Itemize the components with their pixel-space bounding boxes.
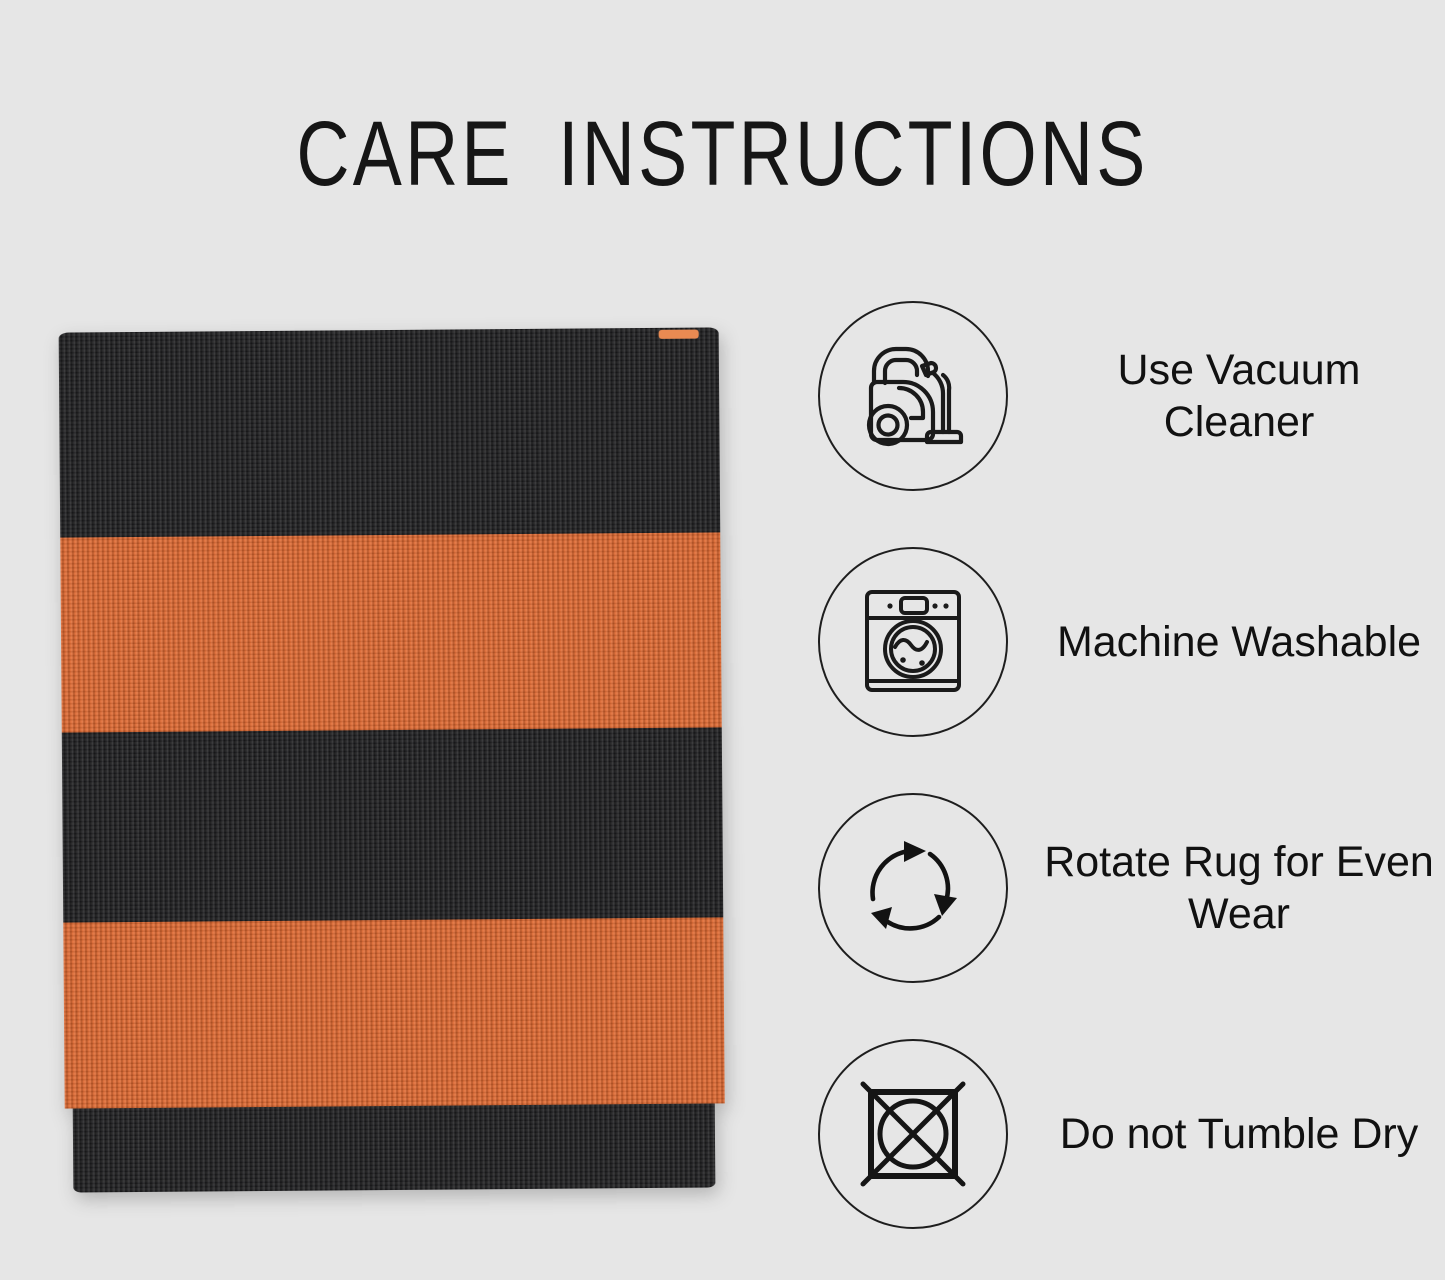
care-label-rotate: Rotate Rug for Even Wear — [1008, 836, 1438, 940]
care-row-rotate: Rotate Rug for Even Wear — [818, 788, 1438, 988]
do-not-tumble-dry-icon — [857, 1078, 969, 1190]
care-label-vacuum: Use Vacuum Cleaner — [1008, 344, 1438, 448]
icon-circle-rotate — [818, 793, 1008, 983]
care-instructions-infographic: CARE INSTRUCTIONS — [0, 0, 1445, 1264]
rotate-arrows-icon — [854, 829, 972, 947]
care-row-machine-wash: Machine Washable — [818, 542, 1438, 742]
icon-circle-machine-wash — [818, 547, 1008, 737]
vacuum-cleaner-icon — [857, 342, 969, 450]
rug-stripe-black-3 — [73, 1103, 716, 1192]
rug-fold-edge — [659, 330, 699, 339]
care-instructions-list: Use Vacuum Cleaner — [818, 296, 1438, 1280]
rug-stripe-black-2 — [62, 727, 723, 922]
rug-stripe-black-1 — [59, 327, 721, 537]
product-image-rug — [62, 330, 762, 1220]
care-label-no-tumble-dry: Do not Tumble Dry — [1008, 1108, 1438, 1160]
page-title: CARE INSTRUCTIONS — [145, 104, 1301, 204]
rug-stripe-orange-1 — [60, 532, 722, 732]
rug-stripe-orange-2 — [63, 917, 724, 1108]
icon-circle-no-tumble-dry — [818, 1039, 1008, 1229]
washing-machine-icon — [859, 586, 967, 698]
icon-circle-vacuum — [818, 301, 1008, 491]
care-row-vacuum: Use Vacuum Cleaner — [818, 296, 1438, 496]
care-label-machine-wash: Machine Washable — [1008, 616, 1438, 668]
care-row-no-tumble-dry: Do not Tumble Dry — [818, 1034, 1438, 1234]
rug-illustration — [59, 327, 726, 1192]
